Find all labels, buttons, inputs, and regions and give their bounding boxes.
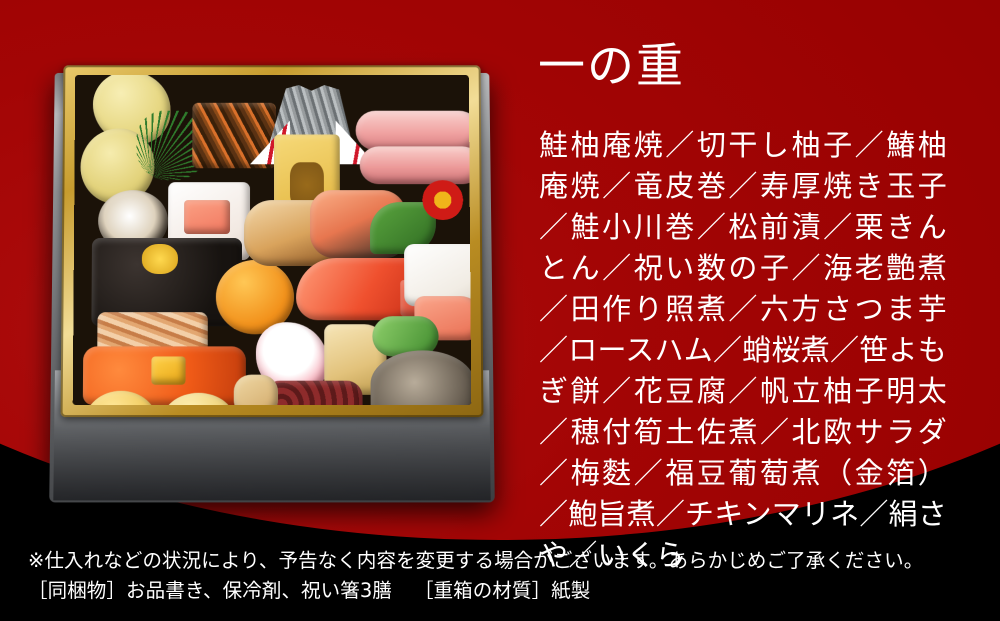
jubako-box xyxy=(34,8,506,528)
promo-banner: 一の重 鮭柚庵焼／切干し柚子／鰆柚庵焼／竜皮巻／寿厚焼き玉子／鮭小川巻／松前漬／… xyxy=(0,0,1000,621)
box-interior xyxy=(73,75,472,405)
contents-list: 鮭柚庵焼／切干し柚子／鰆柚庵焼／竜皮巻／寿厚焼き玉子／鮭小川巻／松前漬／栗きんと… xyxy=(539,125,947,576)
material-value: 紙製 xyxy=(551,579,590,602)
page-title: 一の重 xyxy=(538,40,685,94)
decoration-mizuhiki-knot xyxy=(422,180,464,220)
food-roast-ham-roll-2 xyxy=(360,146,472,184)
food-tako-sakurani-octopus xyxy=(264,381,363,405)
food-roast-ham-roll-1 xyxy=(356,111,472,151)
package-info-line: ［同梱物］お品書き、保冷剤、祝い箸3膳［重箱の材質］紙製 xyxy=(28,576,972,606)
food-salmon-slice xyxy=(184,200,230,234)
material-label: ［重箱の材質］ xyxy=(414,579,551,602)
disclaimer-text: ※仕入れなどの状況により、予告なく内容を変更する場合がございます。あらかじめご了… xyxy=(28,546,972,576)
osechi-box-photo xyxy=(34,8,506,528)
included-label: ［同梱物］ xyxy=(28,579,126,602)
food-chicken-marine xyxy=(234,375,278,405)
food-gold-leaf-kinpaku xyxy=(142,244,178,274)
included-value: お品書き、保冷剤、祝い箸3膳 xyxy=(126,579,392,602)
footer-notes: ※仕入れなどの状況により、予告なく内容を変更する場合がございます。あらかじめご了… xyxy=(28,546,972,606)
food-kiriboshi-yuzu xyxy=(151,356,185,384)
